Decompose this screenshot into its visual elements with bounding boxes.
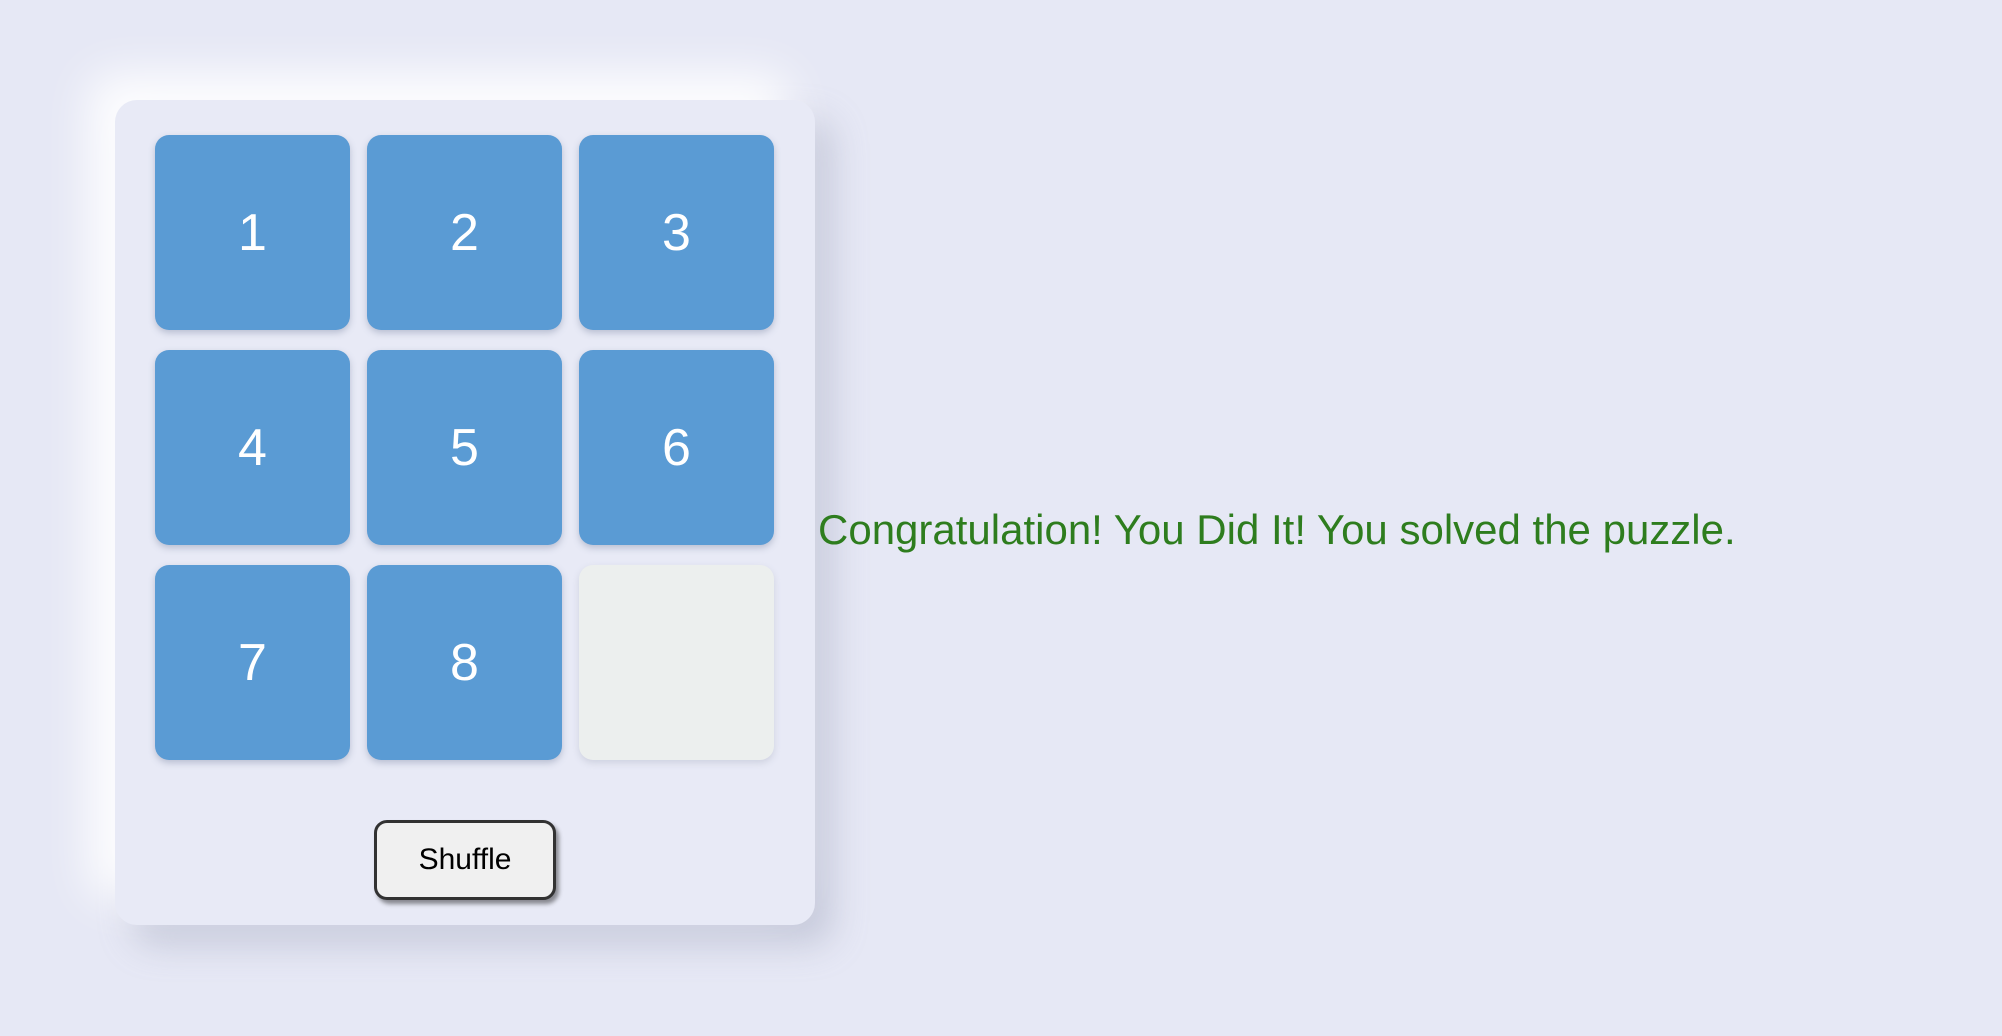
tile-grid: 1 2 3 4 5 6 7 8 [155,135,775,760]
tile-label: 3 [662,207,691,259]
puzzle-app: 1 2 3 4 5 6 7 8 [0,0,2002,1036]
tile-4[interactable]: 4 [155,350,350,545]
shuffle-button[interactable]: Shuffle [374,820,556,900]
tile-label: 5 [450,422,479,474]
tile-empty-slot[interactable] [579,565,774,760]
tile-3[interactable]: 3 [579,135,774,330]
tile-2[interactable]: 2 [367,135,562,330]
tile-8[interactable]: 8 [367,565,562,760]
tile-5[interactable]: 5 [367,350,562,545]
tile-1[interactable]: 1 [155,135,350,330]
tile-label: 4 [238,422,267,474]
tile-6[interactable]: 6 [579,350,774,545]
status-message: Congratulation! You Did It! You solved t… [818,505,1736,555]
tile-7[interactable]: 7 [155,565,350,760]
tile-label: 2 [450,207,479,259]
tile-label: 8 [450,637,479,689]
tile-label: 7 [238,637,267,689]
shuffle-row: Shuffle [155,820,775,900]
puzzle-card: 1 2 3 4 5 6 7 8 [115,100,815,925]
tile-label: 1 [238,207,267,259]
tile-label: 6 [662,422,691,474]
